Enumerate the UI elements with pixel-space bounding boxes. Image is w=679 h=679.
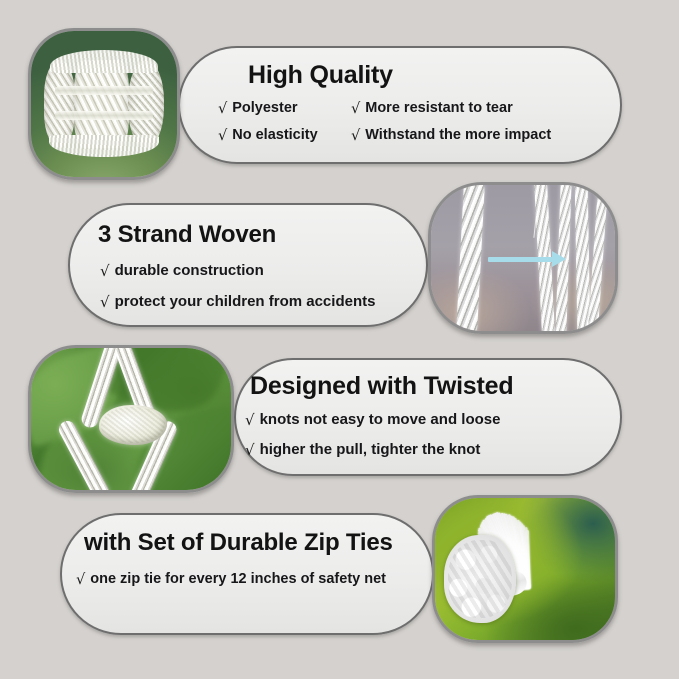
- list-item: √ knots not easy to move and loose: [245, 410, 500, 428]
- check-icon: √: [351, 128, 360, 144]
- feature-panel-3-strand-woven: 3 Strand Woven √ durable construction √ …: [68, 203, 428, 327]
- feature-panel-designed-with-twisted: Designed with Twisted √ knots not easy t…: [234, 358, 622, 476]
- knot-image: [31, 348, 231, 490]
- section-title: Designed with Twisted: [250, 372, 513, 401]
- photo-three-strands: [428, 182, 618, 334]
- rope-coil-band: [55, 111, 153, 120]
- feature-bullet-list: √ durable construction √ protect your ch…: [100, 261, 375, 323]
- panel-content: with Set of Durable Zip Ties √ one zip t…: [62, 515, 432, 633]
- bullet-row: √ Polyester √ More resistant to tear: [218, 100, 608, 116]
- list-item-label: protect your children from accidents: [115, 293, 376, 310]
- rope-coil-band: [55, 86, 153, 95]
- feature-panel-durable-zip-ties: with Set of Durable Zip Ties √ one zip t…: [60, 513, 434, 635]
- rope-coil-top-edge: [50, 50, 158, 73]
- knot-core: [99, 405, 167, 445]
- check-icon: √: [218, 101, 227, 117]
- list-item-label: Polyester: [232, 100, 297, 116]
- list-item: √ protect your children from accidents: [100, 292, 375, 310]
- list-item: √ More resistant to tear: [351, 100, 513, 116]
- photo-rope-bundle: [28, 28, 180, 180]
- list-item: √ Withstand the more impact: [351, 127, 551, 143]
- feature-bullet-list: √ one zip tie for every 12 inches of saf…: [76, 571, 386, 587]
- rope-coil-bottom-edge: [49, 135, 160, 157]
- product-feature-infographic: High Quality √ Polyester √ More resistan…: [0, 0, 679, 679]
- list-item-label: knots not easy to move and loose: [260, 411, 501, 428]
- list-item-label: Withstand the more impact: [365, 127, 551, 143]
- list-item: √ one zip tie for every 12 inches of saf…: [76, 571, 386, 587]
- panel-content: 3 Strand Woven √ durable construction √ …: [70, 205, 426, 325]
- feature-bullet-list: √ Polyester √ More resistant to tear √ N…: [218, 100, 608, 154]
- panel-content: High Quality √ Polyester √ More resistan…: [180, 48, 620, 162]
- feature-panel-high-quality: High Quality √ Polyester √ More resistan…: [178, 46, 622, 164]
- zip-ties-image: [435, 498, 615, 640]
- list-item: √ durable construction: [100, 261, 375, 279]
- zip-tie-heads-cluster: [444, 535, 516, 623]
- check-icon: √: [100, 293, 110, 311]
- rope-strand: [587, 182, 608, 334]
- check-icon: √: [245, 411, 255, 429]
- list-item-label: one zip tie for every 12 inches of safet…: [90, 571, 386, 587]
- rope-strand: [456, 182, 485, 334]
- check-icon: √: [76, 572, 85, 588]
- list-item-label: More resistant to tear: [365, 100, 512, 116]
- list-item: √ higher the pull, tighter the knot: [245, 440, 500, 458]
- page-title: High Quality: [248, 61, 393, 90]
- photo-zip-ties: [432, 495, 618, 643]
- check-icon: √: [245, 441, 255, 459]
- list-item-label: durable construction: [115, 262, 264, 279]
- list-item: √ Polyester: [218, 100, 351, 116]
- three-strand-image: [431, 185, 615, 331]
- arrow-right-icon: [488, 257, 554, 262]
- check-icon: √: [100, 262, 110, 280]
- list-item-label: higher the pull, tighter the knot: [260, 441, 481, 458]
- feature-bullet-list: √ knots not easy to move and loose √ hig…: [245, 410, 500, 470]
- list-item-label: No elasticity: [232, 127, 317, 143]
- bullet-row: √ No elasticity √ Withstand the more imp…: [218, 127, 608, 143]
- check-icon: √: [351, 101, 360, 117]
- list-item: √ No elasticity: [218, 127, 351, 143]
- section-title: 3 Strand Woven: [98, 221, 276, 249]
- photo-twisted-knot: [28, 345, 234, 493]
- check-icon: √: [218, 128, 227, 144]
- rope-bundle-image: [31, 31, 177, 177]
- section-title: with Set of Durable Zip Ties: [84, 529, 393, 557]
- panel-content: Designed with Twisted √ knots not easy t…: [236, 360, 620, 474]
